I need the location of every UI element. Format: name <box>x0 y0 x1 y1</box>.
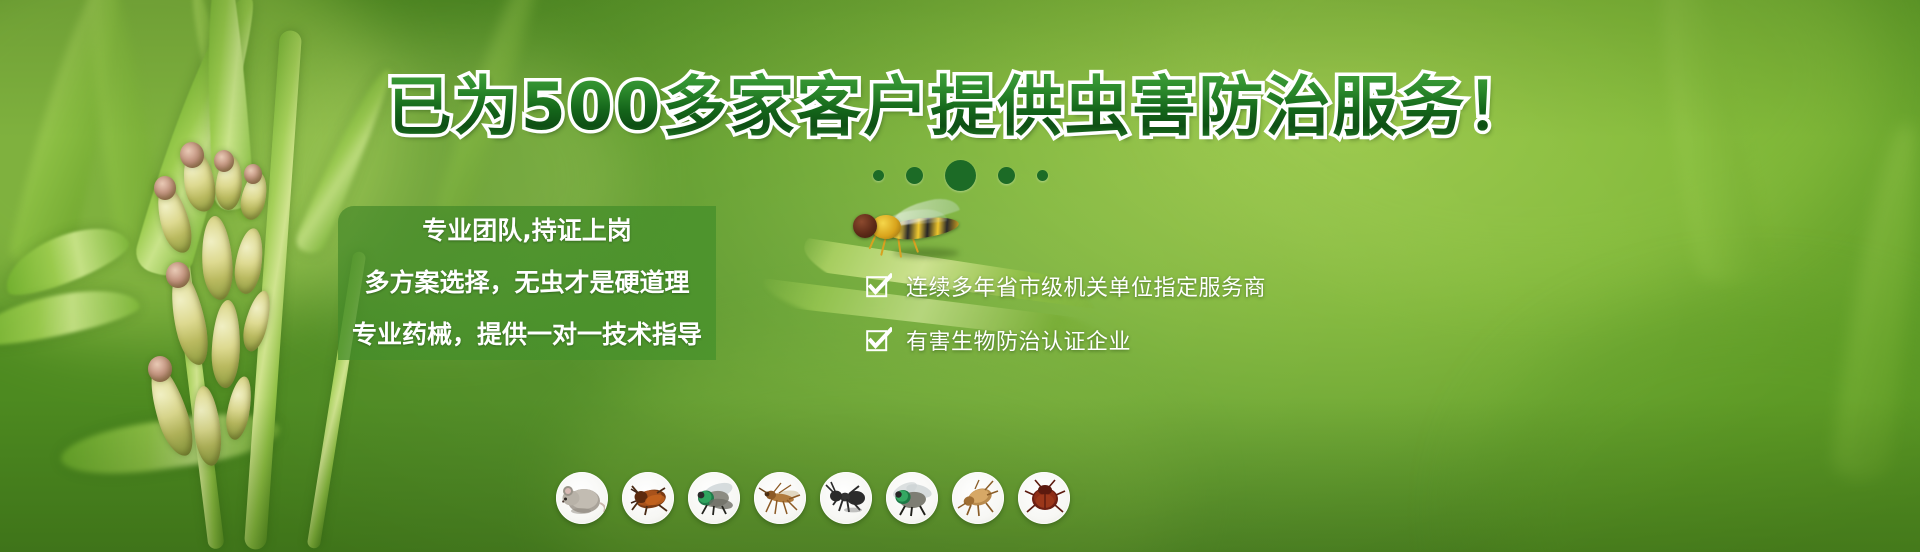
credential-label: 连续多年省市级机关单位指定服务商 <box>906 270 1266 302</box>
hoverfly-shadow <box>893 248 959 258</box>
checkbox-checked-icon <box>866 327 892 353</box>
selling-point-line-1: 专业团队,持证上岗 <box>352 211 702 247</box>
mouse-icon <box>556 472 608 524</box>
decorative-dots <box>0 160 1920 191</box>
cockroach-icon <box>622 472 674 524</box>
green-fly-icon <box>688 472 740 524</box>
credential-label: 有害生物防治认证企业 <box>906 324 1131 356</box>
flea-icon <box>952 472 1004 524</box>
list-item: 有害生物防治认证企业 <box>866 324 1266 356</box>
dot-large-icon <box>945 160 976 191</box>
housefly-icon <box>886 472 938 524</box>
credentials-list: 连续多年省市级机关单位指定服务商 有害生物防治认证企业 <box>866 270 1266 356</box>
hoverfly-head <box>853 214 877 238</box>
dot-small-icon <box>873 170 884 181</box>
mosquito-icon <box>754 472 806 524</box>
dot-medium-icon <box>906 167 923 184</box>
dot-small-icon <box>1037 170 1048 181</box>
selling-point-line-2: 多方案选择，无虫才是硬道理 <box>352 263 702 299</box>
promo-banner: 已为500多家客户提供虫害防治服务！ 已为500多家客户提供虫害防治服务！ 专业… <box>0 0 1920 552</box>
pest-icon-row <box>556 472 1070 524</box>
page-title: 已为500多家客户提供虫害防治服务！ <box>0 72 1920 145</box>
selling-points-panel: 专业团队,持证上岗 多方案选择，无虫才是硬道理 专业药械，提供一对一技术指导 <box>338 206 716 360</box>
checkbox-checked-icon <box>866 273 892 299</box>
bedbug-icon <box>1018 472 1070 524</box>
list-item: 连续多年省市级机关单位指定服务商 <box>866 270 1266 302</box>
hoverfly-photo <box>845 196 965 260</box>
ant-icon <box>820 472 872 524</box>
dot-medium-icon <box>998 167 1015 184</box>
selling-point-line-3: 专业药械，提供一对一技术指导 <box>352 315 702 351</box>
